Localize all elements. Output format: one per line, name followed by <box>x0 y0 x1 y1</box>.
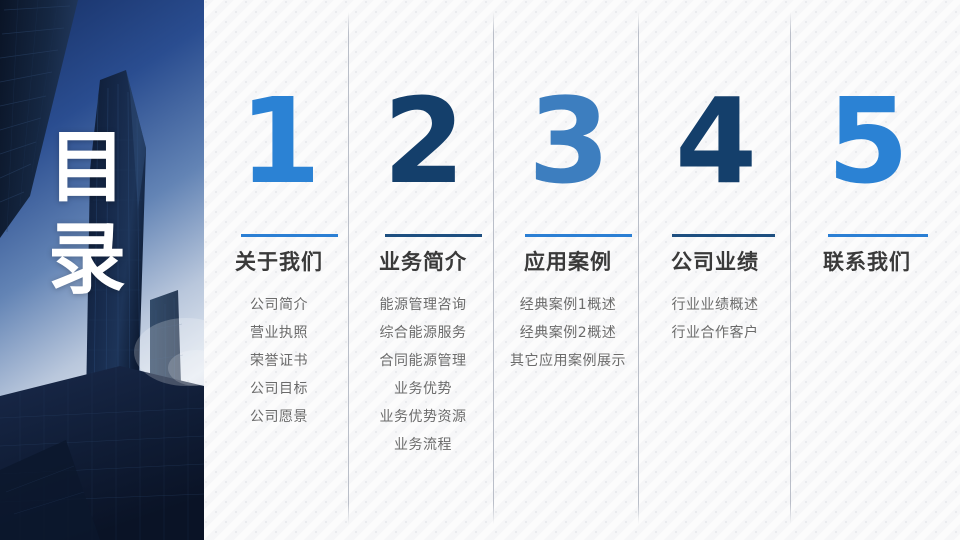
column-title-5: 联系我们 <box>798 247 936 277</box>
list-item[interactable]: 行业业绩概述 <box>646 291 784 319</box>
column-title-4: 公司业绩 <box>646 247 784 277</box>
column-rule-4 <box>672 234 775 237</box>
toc-column-3[interactable]: 3 应用案例 经典案例1概述 经典案例2概述 其它应用案例展示 <box>499 0 637 540</box>
list-item[interactable]: 行业合作客户 <box>646 319 784 347</box>
column-divider-3 <box>638 12 639 524</box>
list-item[interactable]: 经典案例1概述 <box>499 291 637 319</box>
column-divider-2 <box>493 12 494 524</box>
toc-char-2: 录 <box>48 214 144 306</box>
column-number-5: 5 <box>798 82 936 200</box>
column-divider-4 <box>790 12 791 524</box>
column-rule-2 <box>385 234 482 237</box>
list-item[interactable]: 营业执照 <box>210 319 348 347</box>
column-rule-1 <box>241 234 338 237</box>
list-item[interactable]: 公司愿景 <box>210 403 348 431</box>
toc-columns: 1 关于我们 公司简介 营业执照 荣誉证书 公司目标 公司愿景 2 业务简介 能… <box>204 0 960 540</box>
column-number-4: 4 <box>646 82 784 200</box>
toc-column-1[interactable]: 1 关于我们 公司简介 营业执照 荣誉证书 公司目标 公司愿景 <box>210 0 348 540</box>
column-title-2: 业务简介 <box>354 247 492 277</box>
list-item[interactable]: 公司目标 <box>210 375 348 403</box>
toc-char-1: 目 <box>48 122 144 214</box>
column-number-2: 2 <box>354 82 492 200</box>
slide-root: 目 录 1 关于我们 公司简介 营业执照 荣誉证书 公司目标 公司愿景 2 <box>0 0 960 540</box>
toc-column-5[interactable]: 5 联系我们 <box>798 0 936 540</box>
column-items-1: 公司简介 营业执照 荣誉证书 公司目标 公司愿景 <box>210 291 348 431</box>
column-items-2: 能源管理咨询 综合能源服务 合同能源管理 业务优势 业务优势资源 业务流程 <box>354 291 492 459</box>
column-number-3: 3 <box>499 82 637 200</box>
list-item[interactable]: 能源管理咨询 <box>354 291 492 319</box>
toc-column-4[interactable]: 4 公司业绩 行业业绩概述 行业合作客户 <box>646 0 784 540</box>
column-number-1: 1 <box>210 82 348 200</box>
column-items-4: 行业业绩概述 行业合作客户 <box>646 291 784 347</box>
column-rule-3 <box>525 234 632 237</box>
list-item[interactable]: 业务优势 <box>354 375 492 403</box>
column-title-1: 关于我们 <box>210 247 348 277</box>
list-item[interactable]: 合同能源管理 <box>354 347 492 375</box>
list-item[interactable]: 业务流程 <box>354 431 492 459</box>
toc-column-2[interactable]: 2 业务简介 能源管理咨询 综合能源服务 合同能源管理 业务优势 业务优势资源 … <box>354 0 492 540</box>
list-item[interactable]: 公司简介 <box>210 291 348 319</box>
column-items-3: 经典案例1概述 经典案例2概述 其它应用案例展示 <box>499 291 637 375</box>
list-item[interactable]: 其它应用案例展示 <box>499 347 637 375</box>
list-item[interactable]: 经典案例2概述 <box>499 319 637 347</box>
column-rule-5 <box>828 234 928 237</box>
list-item[interactable]: 荣誉证书 <box>210 347 348 375</box>
list-item[interactable]: 综合能源服务 <box>354 319 492 347</box>
photo-panel: 目 录 <box>0 0 204 540</box>
page-title: 目 录 <box>48 122 144 306</box>
column-divider-1 <box>348 12 349 524</box>
list-item[interactable]: 业务优势资源 <box>354 403 492 431</box>
column-title-3: 应用案例 <box>499 247 637 277</box>
